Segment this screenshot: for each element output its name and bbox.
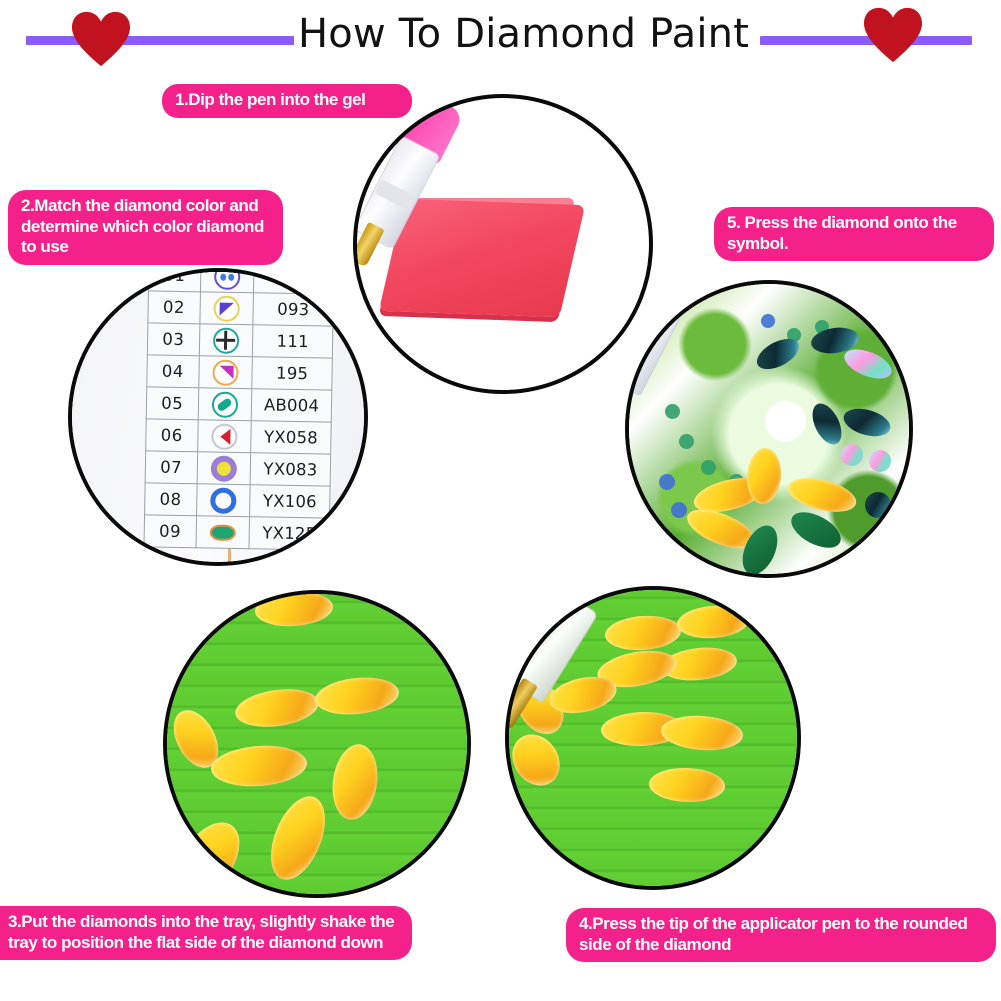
chart-code: YX106 <box>250 485 330 518</box>
color-chart-table: 01 028 02 <box>143 268 334 551</box>
chart-code: YX125 <box>249 517 329 550</box>
chart-symbol-plus-cross-icon <box>199 324 253 357</box>
chart-code: YX083 <box>250 453 330 486</box>
step-4-photo-pen-picking-up-diamond-from-tray <box>505 586 801 890</box>
step-3-label: 3.Put the diamonds into the tray, slight… <box>0 906 412 960</box>
canvas-symbol-dot <box>701 460 716 475</box>
chart-no: 07 <box>145 451 197 484</box>
color-chart-body: 01 028 02 <box>144 268 334 550</box>
table-row: 07 YX083 <box>145 451 331 486</box>
chart-no: 05 <box>146 387 198 420</box>
canvas-symbol-dot <box>671 502 687 518</box>
header-rule-left <box>26 36 294 45</box>
pen-tip <box>505 678 538 729</box>
table-row: 06 YX058 <box>146 419 332 454</box>
table-row: 05 AB004 <box>146 387 332 422</box>
table-row: 03 111 <box>147 323 333 358</box>
step-3-photo-yellow-diamonds-in-green-tray <box>163 590 471 898</box>
canvas-symbol-dot <box>659 474 675 490</box>
table-row: 09 YX125 <box>144 515 330 550</box>
chart-code: 111 <box>253 325 333 358</box>
chart-no: 01 <box>148 268 200 292</box>
placed-diamond <box>865 492 891 518</box>
heart-icon <box>70 10 132 68</box>
chart-symbol-slash-capsule-icon <box>198 388 252 421</box>
chart-code: 093 <box>253 293 333 326</box>
page-title: How To Diamond Paint <box>298 10 734 58</box>
table-row: 08 YX106 <box>145 483 331 518</box>
step-5-label: 5. Press the diamond onto the symbol. <box>714 207 994 261</box>
canvas-symbol-dot <box>679 434 694 449</box>
page-header: How To Diamond Paint <box>0 0 1001 75</box>
chart-code: 028 <box>254 268 334 294</box>
color-chart-table-wrap: 01 028 02 <box>143 268 334 551</box>
step-4-label: 4.Press the tip of the applicator pen to… <box>566 908 996 962</box>
table-row: 04 195 <box>147 355 333 390</box>
chart-symbol-chevron-left-icon <box>197 420 251 453</box>
chart-symbol-open-ring-icon <box>196 484 250 517</box>
canvas-symbol-dot <box>665 404 680 419</box>
placed-diamond <box>869 450 891 472</box>
chart-no: 03 <box>147 323 199 356</box>
step-2-label: 2.Match the diamond color and determine … <box>8 190 283 265</box>
step-2-photo-diamond-color-symbol-chart: 01 028 02 <box>68 268 368 566</box>
chart-symbol-triangle-corner-icon <box>198 356 252 389</box>
chart-symbol-triangle-corner-icon <box>199 292 253 325</box>
chart-symbol-filled-dot-ring-icon <box>197 452 251 485</box>
chart-no: 06 <box>146 419 198 452</box>
chart-no: 04 <box>147 355 199 388</box>
chart-code: 195 <box>252 357 332 390</box>
chart-code: YX058 <box>251 421 331 454</box>
step-1-photo-pen-dipping-into-pink-gel-pad <box>353 94 653 394</box>
chart-symbol-leaf-marquise-icon <box>196 516 250 549</box>
table-row: 02 093 <box>148 291 334 326</box>
chart-no: 02 <box>148 291 200 324</box>
placed-diamond <box>841 444 863 466</box>
chart-no: 08 <box>145 483 197 516</box>
chart-no: 09 <box>144 515 196 548</box>
heart-icon <box>862 6 924 64</box>
chart-code: AB004 <box>251 389 331 422</box>
canvas-symbol-dot <box>761 314 775 328</box>
chart-symbol-double-dot-circle-icon <box>200 268 254 293</box>
table-row: 01 028 <box>148 268 334 294</box>
step-5-photo-placing-diamond-onto-canvas-symbol <box>625 280 913 578</box>
